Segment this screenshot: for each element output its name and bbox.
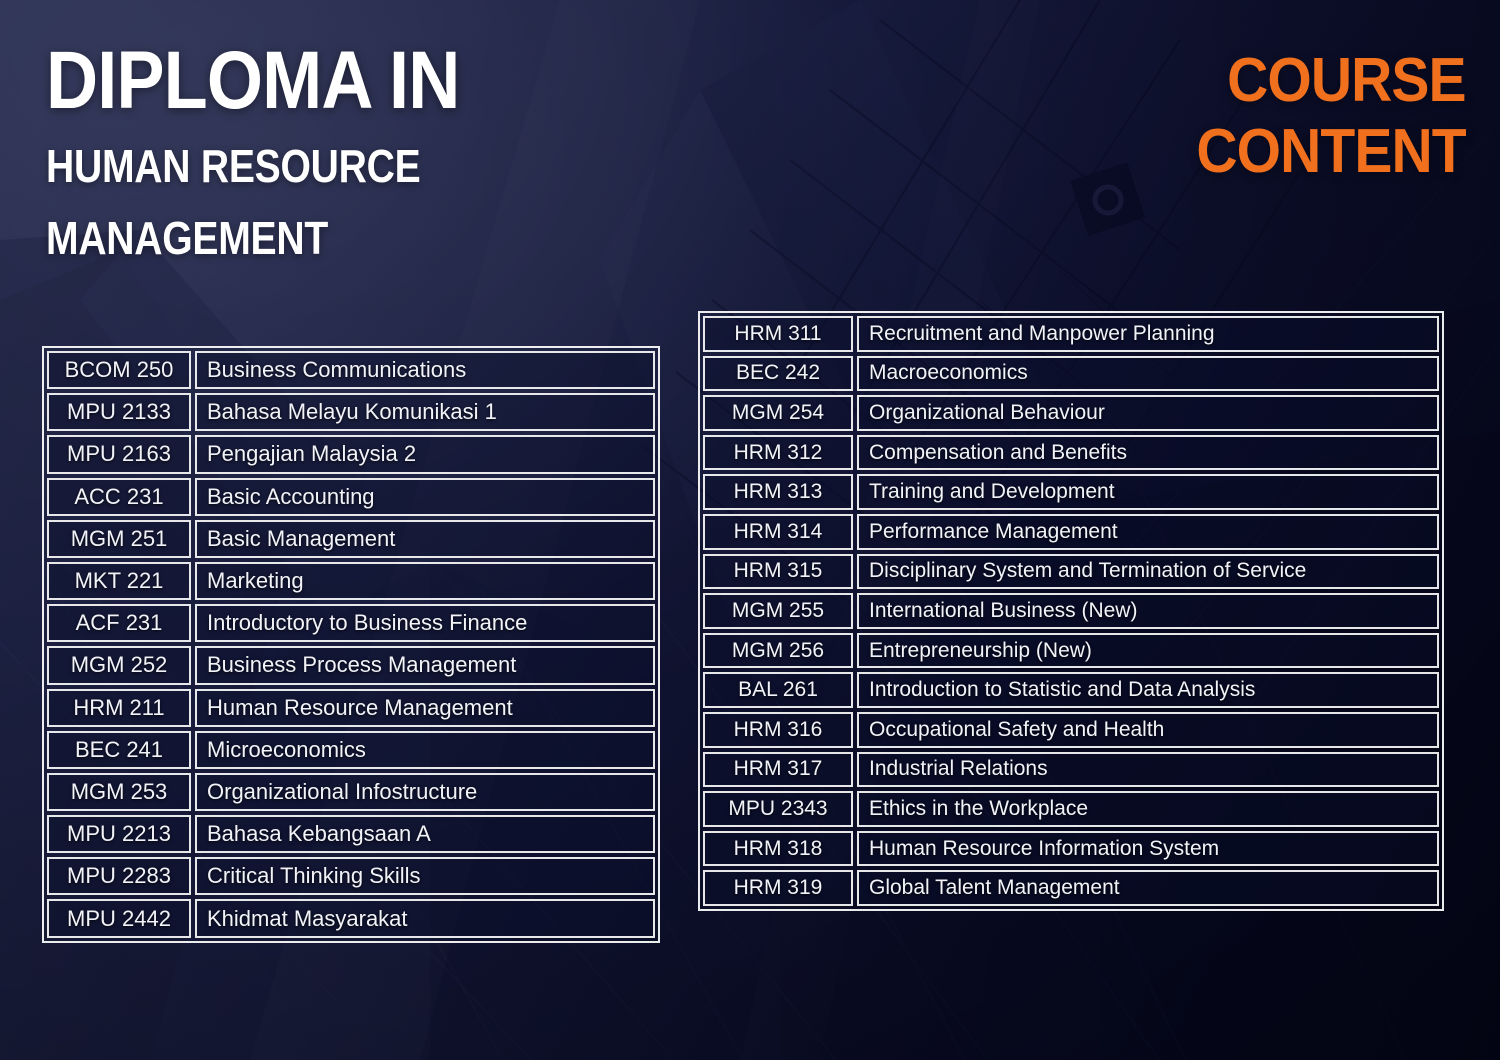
table-row[interactable]: MPU 2442Khidmat Masyarakat	[47, 899, 655, 937]
course-code-cell: MPU 2283	[47, 857, 191, 895]
course-code-cell: MGM 252	[47, 646, 191, 684]
table-row[interactable]: MGM 255International Business (New)	[703, 593, 1439, 629]
course-name-cell: Introduction to Statistic and Data Analy…	[857, 672, 1439, 708]
course-name-cell: Compensation and Benefits	[857, 435, 1439, 471]
course-code-cell: MKT 221	[47, 562, 191, 600]
course-code-cell: HRM 318	[703, 831, 853, 867]
table-row[interactable]: MPU 2163Pengajian Malaysia 2	[47, 435, 655, 473]
course-code-cell: HRM 316	[703, 712, 853, 748]
course-table-left: BCOM 250Business CommunicationsMPU 2133B…	[42, 346, 660, 943]
course-name-cell: Performance Management	[857, 514, 1439, 550]
course-code-cell: ACF 231	[47, 604, 191, 642]
table-row[interactable]: MPU 2343Ethics in the Workplace	[703, 791, 1439, 827]
course-name-cell: Global Talent Management	[857, 870, 1439, 906]
course-name-cell: Bahasa Kebangsaan A	[195, 815, 655, 853]
course-name-cell: Khidmat Masyarakat	[195, 899, 655, 937]
table-row[interactable]: MGM 254Organizational Behaviour	[703, 395, 1439, 431]
table-row[interactable]: HRM 211Human Resource Management	[47, 689, 655, 727]
course-name-cell: Disciplinary System and Termination of S…	[857, 554, 1439, 590]
course-code-cell: ACC 231	[47, 478, 191, 516]
table-row[interactable]: BEC 242Macroeconomics	[703, 356, 1439, 392]
course-table-right: HRM 311Recruitment and Manpower Planning…	[698, 311, 1444, 911]
table-row[interactable]: HRM 316Occupational Safety and Health	[703, 712, 1439, 748]
course-name-cell: Microeconomics	[195, 731, 655, 769]
page-title-block: DIPLOMA IN HUMAN RESOURCE MANAGEMENT	[46, 42, 516, 261]
course-name-cell: Organizational Infostructure	[195, 773, 655, 811]
course-code-cell: MPU 2163	[47, 435, 191, 473]
course-code-cell: BCOM 250	[47, 351, 191, 389]
course-name-cell: Business Process Management	[195, 646, 655, 684]
table-row[interactable]: MGM 253Organizational Infostructure	[47, 773, 655, 811]
table-row[interactable]: MPU 2213Bahasa Kebangsaan A	[47, 815, 655, 853]
course-code-cell: HRM 211	[47, 689, 191, 727]
course-name-cell: Bahasa Melayu Komunikasi 1	[195, 393, 655, 431]
course-code-cell: BEC 242	[703, 356, 853, 392]
course-name-cell: Pengajian Malaysia 2	[195, 435, 655, 473]
table-row[interactable]: MKT 221Marketing	[47, 562, 655, 600]
course-content-line1: COURSE	[1197, 52, 1466, 109]
course-name-cell: Introductory to Business Finance	[195, 604, 655, 642]
course-name-cell: Recruitment and Manpower Planning	[857, 316, 1439, 352]
course-code-cell: HRM 311	[703, 316, 853, 352]
course-code-cell: MPU 2133	[47, 393, 191, 431]
table-row[interactable]: HRM 315Disciplinary System and Terminati…	[703, 554, 1439, 590]
table-row[interactable]: HRM 317Industrial Relations	[703, 752, 1439, 788]
table-row[interactable]: BAL 261Introduction to Statistic and Dat…	[703, 672, 1439, 708]
course-name-cell: Business Communications	[195, 351, 655, 389]
table-row[interactable]: MPU 2283Critical Thinking Skills	[47, 857, 655, 895]
course-name-cell: Occupational Safety and Health	[857, 712, 1439, 748]
course-code-cell: HRM 313	[703, 474, 853, 510]
table-row[interactable]: MPU 2133Bahasa Melayu Komunikasi 1	[47, 393, 655, 431]
course-code-cell: HRM 317	[703, 752, 853, 788]
table-row[interactable]: MGM 256Entrepreneurship (New)	[703, 633, 1439, 669]
table-row[interactable]: HRM 312Compensation and Benefits	[703, 435, 1439, 471]
course-name-cell: Ethics in the Workplace	[857, 791, 1439, 827]
table-row[interactable]: MGM 251Basic Management	[47, 520, 655, 558]
table-row[interactable]: HRM 314Performance Management	[703, 514, 1439, 550]
table-row[interactable]: MGM 252Business Process Management	[47, 646, 655, 684]
table-row[interactable]: HRM 318Human Resource Information System	[703, 831, 1439, 867]
table-row[interactable]: ACF 231Introductory to Business Finance	[47, 604, 655, 642]
course-code-cell: MGM 254	[703, 395, 853, 431]
course-code-cell: MGM 253	[47, 773, 191, 811]
table-row[interactable]: BEC 241Microeconomics	[47, 731, 655, 769]
course-code-cell: MPU 2343	[703, 791, 853, 827]
course-code-cell: MPU 2213	[47, 815, 191, 853]
course-code-cell: MPU 2442	[47, 899, 191, 937]
course-content-line2: CONTENT	[1197, 123, 1466, 180]
course-name-cell: Entrepreneurship (New)	[857, 633, 1439, 669]
course-name-cell: Human Resource Information System	[857, 831, 1439, 867]
course-code-cell: MGM 256	[703, 633, 853, 669]
course-name-cell: Industrial Relations	[857, 752, 1439, 788]
page-title-line1: DIPLOMA IN	[46, 42, 459, 119]
table-row[interactable]: BCOM 250Business Communications	[47, 351, 655, 389]
course-content-badge: COURSE CONTENT	[1173, 52, 1466, 180]
course-name-cell: Basic Management	[195, 520, 655, 558]
course-code-cell: HRM 312	[703, 435, 853, 471]
course-code-cell: BAL 261	[703, 672, 853, 708]
course-code-cell: MGM 255	[703, 593, 853, 629]
course-code-cell: HRM 319	[703, 870, 853, 906]
course-name-cell: Training and Development	[857, 474, 1439, 510]
course-code-cell: MGM 251	[47, 520, 191, 558]
course-name-cell: Marketing	[195, 562, 655, 600]
course-code-cell: HRM 314	[703, 514, 853, 550]
table-row[interactable]: ACC 231Basic Accounting	[47, 478, 655, 516]
course-name-cell: International Business (New)	[857, 593, 1439, 629]
page-title-line2: HUMAN RESOURCE	[46, 143, 445, 189]
course-name-cell: Basic Accounting	[195, 478, 655, 516]
table-row[interactable]: HRM 313Training and Development	[703, 474, 1439, 510]
course-code-cell: HRM 315	[703, 554, 853, 590]
course-code-cell: BEC 241	[47, 731, 191, 769]
course-name-cell: Human Resource Management	[195, 689, 655, 727]
page-title-line3: MANAGEMENT	[46, 215, 445, 261]
course-name-cell: Organizational Behaviour	[857, 395, 1439, 431]
table-row[interactable]: HRM 311Recruitment and Manpower Planning	[703, 316, 1439, 352]
course-name-cell: Macroeconomics	[857, 356, 1439, 392]
course-name-cell: Critical Thinking Skills	[195, 857, 655, 895]
table-row[interactable]: HRM 319Global Talent Management	[703, 870, 1439, 906]
